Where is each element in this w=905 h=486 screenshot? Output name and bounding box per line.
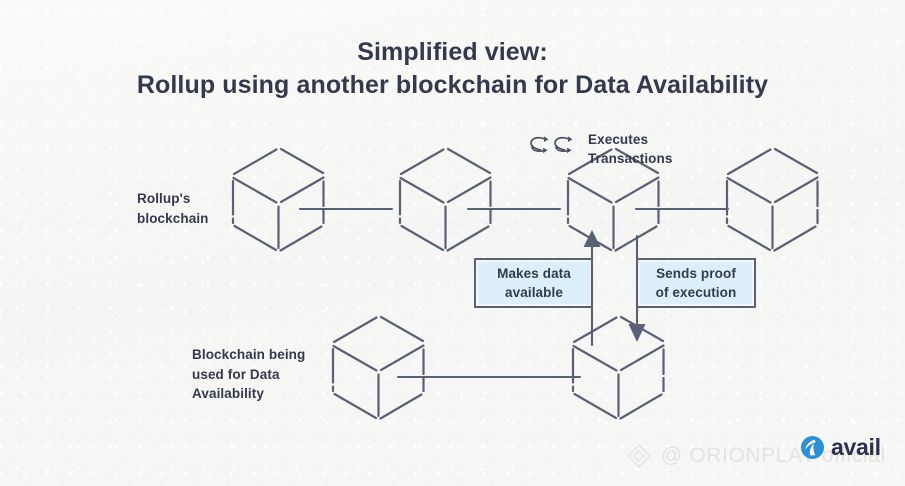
callout-makes-data-available: Makes data available [478,262,590,304]
avail-logo: avail [800,435,881,460]
label-da-chain-line1: Blockchain being [192,345,342,365]
label-executes-transactions: Executes Transactions [588,130,728,168]
label-da-chain-line2: used for Data [192,365,342,385]
cube-rollup-2 [400,149,491,251]
label-rollup-chain: Rollup's blockchain [137,189,257,228]
callout-right-line2: of execution [656,283,737,302]
cube-rollup-4 [727,149,818,251]
label-executes-line1: Executes [588,130,728,149]
label-rollup-chain-line2: blockchain [137,209,257,229]
label-executes-line2: Transactions [588,149,728,168]
cycle-arrows-icon [531,136,572,153]
label-da-chain: Blockchain being used for Data Availabil… [192,345,342,404]
avail-wordmark: avail [831,436,881,459]
callout-right-line1: Sends proof [656,264,737,283]
da-chain-cubes [333,317,664,419]
cube-da-2 [573,317,664,419]
diagram-canvas: Simplified view: Rollup using another bl… [0,0,905,486]
callout-left-line2: available [497,283,571,302]
label-da-chain-line3: Availability [192,384,342,404]
diagram-vector-layer [0,0,905,486]
rollup-chain-cubes [233,149,818,251]
avail-badge-icon [800,435,825,460]
label-rollup-chain-line1: Rollup's [137,189,257,209]
callout-sends-proof-of-execution: Sends proof of execution [640,262,752,304]
callout-left-line1: Makes data [497,264,571,283]
cube-da-1 [333,317,424,419]
